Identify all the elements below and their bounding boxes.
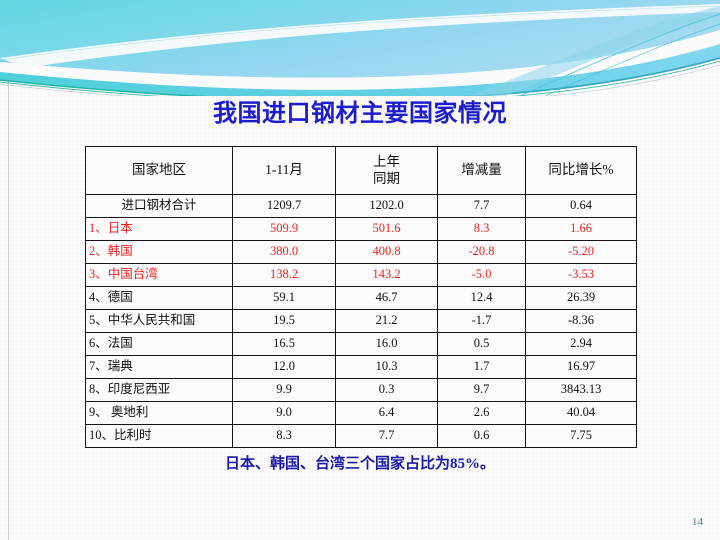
cell-change: -5.0 [438,264,526,287]
cell-jan-nov: 12.0 [233,356,336,379]
page-title: 我国进口钢材主要国家情况 [0,93,720,128]
cell-yoy: -8.36 [526,310,637,333]
cell-country: 6、法国 [86,333,233,356]
table-row: 9、 奥地利 9.0 6.4 2.6 40.04 [86,402,637,425]
table-header-row: 国家地区 1-11月 上年 同期 增减量 同比增长% [86,147,637,195]
cell-jan-nov: 8.3 [233,425,336,448]
cell-change: 8.3 [438,218,526,241]
cell-jan-nov: 9.0 [233,402,336,425]
cell-change: 0.6 [438,425,526,448]
cell-prev-year: 7.7 [336,425,438,448]
cell-yoy: 7.75 [526,425,637,448]
column-header-jan-nov: 1-11月 [233,147,336,195]
cell-prev-year: 46.7 [336,287,438,310]
table-row: 8、印度尼西亚 9.9 0.3 9.7 3843.13 [86,379,637,402]
column-header-yoy-growth-pct: 同比增长% [526,147,637,195]
cell-change: 2.6 [438,402,526,425]
cell-yoy: 0.64 [526,195,637,218]
cell-country: 5、中华人民共和国 [86,310,233,333]
import-steel-table-container: 国家地区 1-11月 上年 同期 增减量 同比增长% 进口钢材合计 1209.7… [85,146,636,448]
table-row: 进口钢材合计 1209.7 1202.0 7.7 0.64 [86,195,637,218]
cell-country: 4、德国 [86,287,233,310]
cell-yoy: -5.20 [526,241,637,264]
cell-prev-year: 0.3 [336,379,438,402]
cell-jan-nov: 509.9 [233,218,336,241]
table-body: 进口钢材合计 1209.7 1202.0 7.7 0.64 1、日本 509.9… [86,195,637,448]
cell-country: 进口钢材合计 [86,195,233,218]
table-row: 6、法国 16.5 16.0 0.5 2.94 [86,333,637,356]
cell-prev-year: 501.6 [336,218,438,241]
table-row: 1、日本 509.9 501.6 8.3 1.66 [86,218,637,241]
column-header-prev-year-same-period: 上年 同期 [336,147,438,195]
table-row: 7、瑞典 12.0 10.3 1.7 16.97 [86,356,637,379]
cell-country: 2、韩国 [86,241,233,264]
cell-jan-nov: 1209.7 [233,195,336,218]
cell-prev-year: 1202.0 [336,195,438,218]
table-row: 4、德国 59.1 46.7 12.4 26.39 [86,287,637,310]
cell-jan-nov: 380.0 [233,241,336,264]
cell-yoy: -3.53 [526,264,637,287]
cell-country: 3、中国台湾 [86,264,233,287]
column-header-country: 国家地区 [86,147,233,195]
cell-prev-year: 6.4 [336,402,438,425]
cell-yoy: 2.94 [526,333,637,356]
cell-yoy: 26.39 [526,287,637,310]
cell-country: 9、 奥地利 [86,402,233,425]
cell-change: 9.7 [438,379,526,402]
cell-country: 8、印度尼西亚 [86,379,233,402]
column-header-line-1: 上年 [336,154,437,171]
table-row: 3、中国台湾 138.2 143.2 -5.0 -3.53 [86,264,637,287]
footnote-text: 日本、韩国、台湾三个国家占比为85%。 [0,452,720,473]
table-row: 5、中华人民共和国 19.5 21.2 -1.7 -8.36 [86,310,637,333]
cell-jan-nov: 19.5 [233,310,336,333]
table-row: 10、比利时 8.3 7.7 0.6 7.75 [86,425,637,448]
cell-change: 12.4 [438,287,526,310]
cell-prev-year: 16.0 [336,333,438,356]
cell-change: -20.8 [438,241,526,264]
cell-change: -1.7 [438,310,526,333]
cell-country: 10、比利时 [86,425,233,448]
cell-prev-year: 400.8 [336,241,438,264]
cell-jan-nov: 59.1 [233,287,336,310]
cell-change: 0.5 [438,333,526,356]
cell-country: 7、瑞典 [86,356,233,379]
cell-change: 7.7 [438,195,526,218]
cell-jan-nov: 16.5 [233,333,336,356]
cell-prev-year: 10.3 [336,356,438,379]
cell-yoy: 1.66 [526,218,637,241]
cell-jan-nov: 138.2 [233,264,336,287]
cell-country: 1、日本 [86,218,233,241]
column-header-line-2: 同期 [336,171,437,188]
cell-prev-year: 143.2 [336,264,438,287]
table-row: 2、韩国 380.0 400.8 -20.8 -5.20 [86,241,637,264]
header-ribbon-graphic [0,0,720,96]
slide: 我国进口钢材主要国家情况 国家地区 1-11月 上年 同期 增减量 同比增长% [0,0,720,540]
cell-change: 1.7 [438,356,526,379]
cell-jan-nov: 9.9 [233,379,336,402]
cell-yoy: 40.04 [526,402,637,425]
cell-prev-year: 21.2 [336,310,438,333]
cell-yoy: 3843.13 [526,379,637,402]
column-header-change-amount: 增减量 [438,147,526,195]
import-steel-table: 国家地区 1-11月 上年 同期 增减量 同比增长% 进口钢材合计 1209.7… [85,146,637,448]
cell-yoy: 16.97 [526,356,637,379]
page-number: 14 [692,516,703,528]
